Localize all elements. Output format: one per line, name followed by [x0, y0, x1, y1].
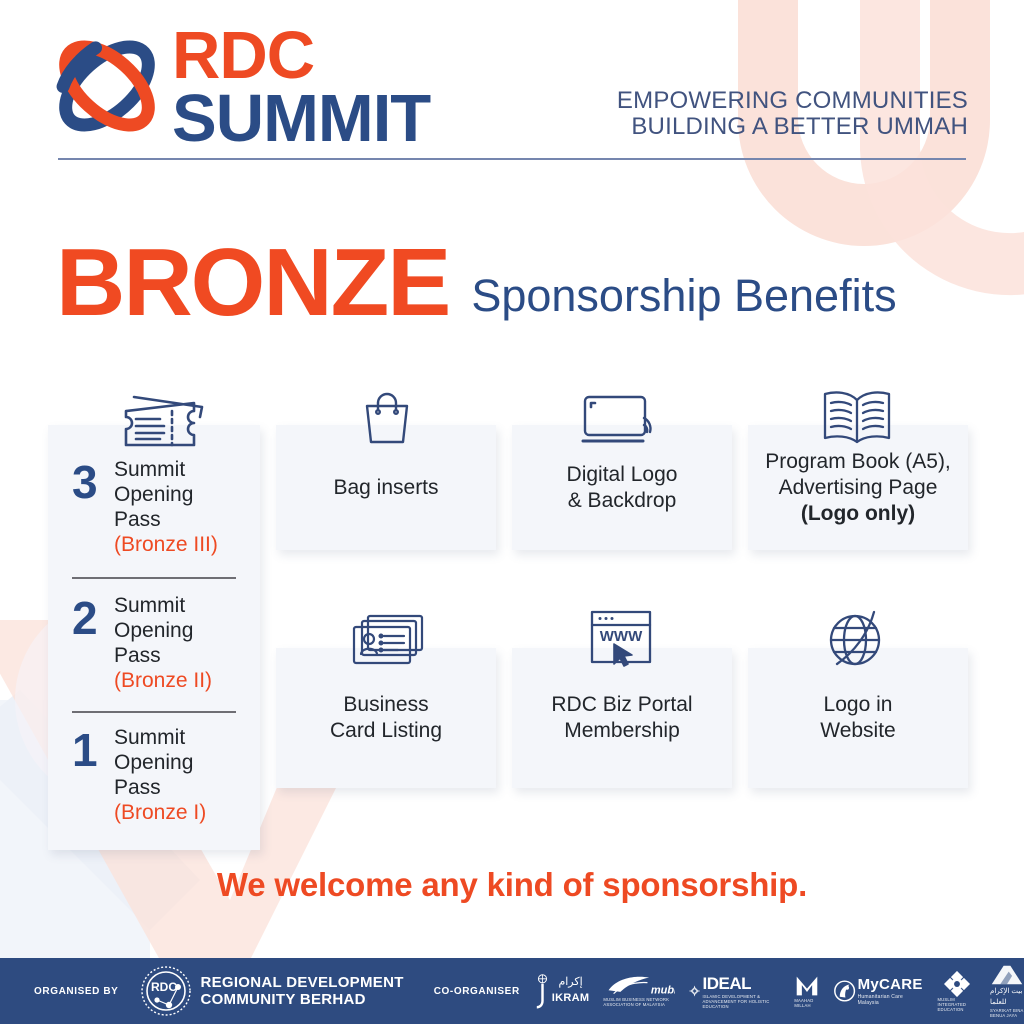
- browser-www-icon: WWW: [586, 608, 656, 670]
- ideal-name: IDEAL: [703, 974, 752, 993]
- ikram-name: IKRAM: [552, 992, 590, 1004]
- globe-icon: [824, 608, 886, 670]
- svg-text:RDC: RDC: [151, 980, 177, 994]
- tier-bronze-level: (Bronze I): [114, 800, 206, 825]
- poster-root: RDC SUMMIT EMPOWERING COMMUNITIES BUILDI…: [0, 0, 1024, 1024]
- header-divider: [58, 158, 966, 160]
- summit-pass-tier-column: 3 Summit Opening Pass (Bronze III) 2 Sum…: [48, 425, 260, 850]
- rdc-orbit-logo-icon: [46, 30, 168, 142]
- co-organiser-label: CO-ORGANISER: [434, 986, 520, 997]
- mie-subtitle: MUSLIM INTEGRATED EDUCATION: [937, 997, 976, 1012]
- ikram-logo-icon: إكرام IKRAM: [536, 971, 590, 1011]
- benefit-line-2: & Backdrop: [568, 489, 677, 512]
- tier-line-2: Opening: [114, 619, 193, 642]
- business-cards-icon: [348, 612, 426, 668]
- tier-line-1: Summit: [114, 726, 185, 749]
- benefit-line-1: RDC Biz Portal: [551, 693, 692, 716]
- tier-label: Summit Opening Pass (Bronze I): [114, 725, 206, 825]
- tier-line-3: Pass: [114, 776, 161, 799]
- tier-line-1: Summit: [114, 458, 185, 481]
- ikram-arabic: إكرام: [552, 977, 590, 988]
- tier-row-bronze-1: 1 Summit Opening Pass (Bronze I): [48, 725, 260, 825]
- mycare-logo-icon: MyCARE Humanitarian Care Malaysia: [834, 976, 923, 1006]
- benefit-line-1: Logo in: [824, 693, 893, 716]
- tier-label: Summit Opening Pass (Bronze II): [114, 593, 212, 693]
- tier-line-3: Pass: [114, 644, 161, 667]
- mubin-subtitle: MUSLIM BUSINESS NETWORK ASSOCIATION OF M…: [603, 997, 675, 1007]
- benefit-line-2: Advertising Page: [779, 476, 938, 499]
- tagline: EMPOWERING COMMUNITIES BUILDING A BETTER…: [617, 88, 968, 140]
- benefit-card-label: Bag inserts: [323, 475, 448, 501]
- tier-line-1: Summit: [114, 594, 185, 617]
- benefit-line-1: Bag inserts: [333, 476, 438, 499]
- benefit-card-label: Digital Logo & Backdrop: [557, 462, 688, 514]
- rdc-organisation-name: REGIONAL DEVELOPMENT COMMUNITY BERHAD: [200, 974, 403, 1008]
- benefit-card-label: Business Card Listing: [320, 692, 452, 744]
- logo-wordmark: RDC SUMMIT: [172, 26, 430, 152]
- organised-by-label: ORGANISED BY: [34, 986, 118, 997]
- ticket-icon: [114, 393, 206, 449]
- tier-line-3: Pass: [114, 508, 161, 531]
- benefit-card-label: Logo in Website: [810, 692, 905, 744]
- title-bronze: BRONZE: [56, 240, 449, 326]
- rdc-circle-logo-icon: RDC: [140, 965, 192, 1017]
- maahad-logo-icon: MAAHAD MILLAH: [794, 974, 820, 1008]
- benefit-card-business-card-listing[interactable]: Business Card Listing: [276, 648, 496, 788]
- mycare-subtitle: Humanitarian Care Malaysia: [858, 994, 924, 1006]
- shopping-bag-icon: [358, 388, 416, 446]
- benefit-card-label: RDC Biz Portal Membership: [541, 692, 702, 744]
- tagline-line-2: BUILDING A BETTER UMMAH: [617, 114, 968, 140]
- tier-count: 2: [72, 593, 114, 641]
- ideal-logo-icon: IDEAL ISLAMIC DEVELOPMENT & ADVANCEMENT …: [689, 974, 780, 1009]
- logo-summit-text: SUMMIT: [172, 86, 430, 152]
- partner-logo-list: إكرام IKRAM mubin MUSLIM BUSINESS NETWOR…: [536, 964, 1024, 1018]
- digital-screen-icon: [578, 392, 664, 448]
- benefit-line-1: Business: [343, 693, 428, 716]
- tier-divider-2: [72, 711, 236, 713]
- page-title: BRONZE Sponsorship Benefits: [56, 240, 897, 326]
- footer-sponsor-bar: ORGANISED BY RDC REGIONAL DEVELOPMENT CO…: [0, 958, 1024, 1024]
- tier-bronze-level: (Bronze II): [114, 668, 212, 693]
- tier-row-bronze-3: 3 Summit Opening Pass (Bronze III): [48, 457, 260, 557]
- rdc-name-line-1: REGIONAL DEVELOPMENT: [200, 974, 403, 991]
- benefit-line-1: Program Book (A5),: [765, 450, 951, 473]
- welcome-message: We welcome any kind of sponsorship.: [0, 866, 1024, 904]
- benefit-line-2: Card Listing: [330, 719, 442, 742]
- tier-label: Summit Opening Pass (Bronze III): [114, 457, 218, 557]
- binabenua-logo-icon: بيت الإكرام للعلما SYARIKAT BINA BENUA J…: [990, 964, 1024, 1018]
- open-book-icon: [818, 388, 896, 446]
- benefit-line-2: Website: [820, 719, 895, 742]
- binabenua-subtitle: SYARIKAT BINA BENUA JAYA: [990, 1008, 1024, 1018]
- header: RDC SUMMIT EMPOWERING COMMUNITIES BUILDI…: [0, 0, 1024, 175]
- tier-divider-1: [72, 577, 236, 579]
- binabenua-arabic: بيت الإكرام للعلما: [990, 986, 1024, 1008]
- tier-line-2: Opening: [114, 483, 193, 506]
- svg-text:WWW: WWW: [600, 628, 643, 645]
- ideal-subtitle: ISLAMIC DEVELOPMENT & ADVANCEMENT FOR HO…: [703, 994, 781, 1009]
- tagline-line-1: EMPOWERING COMMUNITIES: [617, 88, 968, 114]
- tier-row-bronze-2: 2 Summit Opening Pass (Bronze II): [48, 593, 260, 693]
- benefit-line-3: (Logo only): [801, 502, 915, 525]
- tier-count: 1: [72, 725, 114, 773]
- mycare-name: MyCARE: [858, 976, 923, 993]
- logo-rdc-text: RDC: [172, 26, 430, 86]
- tier-line-2: Opening: [114, 751, 193, 774]
- svg-text:mubin: mubin: [651, 985, 675, 997]
- title-subtitle: Sponsorship Benefits: [471, 270, 896, 326]
- rdc-name-line-2: COMMUNITY BERHAD: [200, 991, 365, 1008]
- mubin-logo-icon: mubin MUSLIM BUSINESS NETWORK ASSOCIATIO…: [603, 975, 675, 1007]
- benefit-card-label: Program Book (A5), Advertising Page (Log…: [755, 449, 961, 527]
- tier-bronze-level: (Bronze III): [114, 532, 218, 557]
- benefit-line-2: Membership: [564, 719, 680, 742]
- benefit-line-1: Digital Logo: [567, 463, 678, 486]
- maahad-subtitle: MAAHAD MILLAH: [794, 998, 820, 1008]
- tier-count: 3: [72, 457, 114, 505]
- mie-logo-icon: MUSLIM INTEGRATED EDUCATION: [937, 971, 976, 1012]
